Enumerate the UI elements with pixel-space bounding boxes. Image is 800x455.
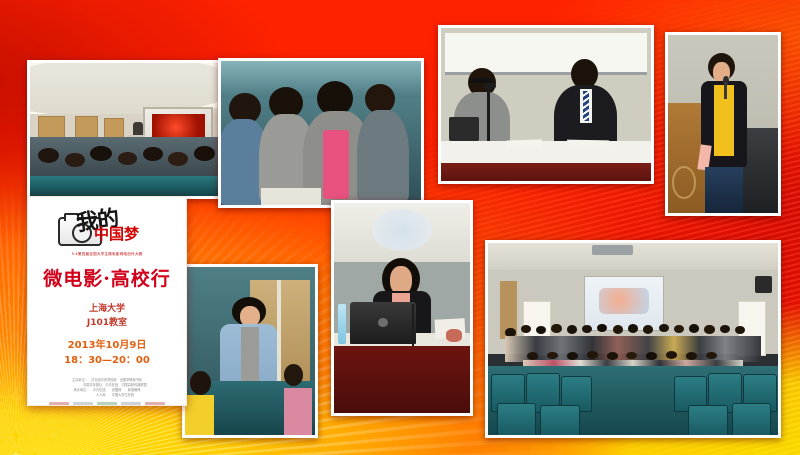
- photo-student-denim[interactable]: [182, 264, 318, 438]
- laptop-icon: [449, 117, 478, 141]
- event-poster[interactable]: 我的 中国梦 5.4第四届全国大学生微电影网络创作大赛 微电影·高校行 上海大学…: [27, 196, 187, 406]
- hand: [446, 329, 462, 342]
- jeans: [705, 167, 742, 213]
- yellow-shirt-student: [185, 395, 214, 435]
- partner-logo: [145, 402, 165, 406]
- papers-right: [567, 139, 609, 147]
- microphone-stand: [487, 86, 490, 144]
- collage-canvas: 我的 中国梦 5.4第四届全国大学生微电影网络创作大赛 微电影·高校行 上海大学…: [0, 0, 800, 455]
- lecture-hall-scene: [30, 63, 225, 196]
- pink-sports-shirt: [323, 130, 349, 199]
- presenter-table: [334, 333, 470, 413]
- microphone-icon: [483, 83, 496, 89]
- poster-logo-red-text: 中国梦: [94, 223, 139, 244]
- laptop-logo-icon: [378, 318, 388, 327]
- partner-logo: [49, 402, 69, 406]
- wall-speaker: [755, 276, 772, 293]
- microphone-body: [724, 83, 727, 99]
- venue-room: J101教室: [28, 317, 186, 331]
- photo-group[interactable]: [485, 240, 781, 438]
- wall-emblem: [672, 166, 696, 198]
- photo-woman-microphone[interactable]: [665, 32, 781, 216]
- presenter-scene: [334, 203, 470, 413]
- panel-table: [441, 141, 651, 181]
- panel-scene: [441, 28, 651, 181]
- photo-lecture-hall[interactable]: [27, 60, 228, 199]
- event-time: 18：30—20：00: [28, 353, 186, 368]
- photo-students-seated[interactable]: [218, 58, 424, 208]
- group-photo-scene: [488, 243, 778, 435]
- water-bottle: [338, 304, 346, 344]
- event-date: 2013年10月9日: [28, 338, 186, 353]
- photo-presenter-laptop[interactable]: [331, 200, 473, 416]
- poster-logo: 我的 中国梦: [28, 203, 186, 251]
- venue-name: 上海大学: [28, 303, 186, 317]
- screen-graphic: [372, 209, 432, 251]
- partner-logo: [97, 402, 117, 406]
- denim-student-scene: [185, 267, 315, 435]
- poster-title: 微电影·高校行: [28, 264, 186, 291]
- seated-student-head-left: [190, 371, 211, 395]
- panel-divider: [277, 280, 281, 391]
- projector: [592, 245, 633, 255]
- poster-datetime: 2013年10月9日 18：30—20：00: [28, 338, 186, 368]
- poster-credits: 主办单位： 共青团中央学校部 全国学联秘书处 中国青年报社 中青在线 中国高校传…: [28, 378, 186, 399]
- striped-tie: [583, 91, 589, 122]
- chair-rows: [488, 366, 778, 435]
- poster-venue: 上海大学 J101教室: [28, 303, 186, 331]
- partner-logo: [73, 402, 93, 406]
- poster-subtitle: 5.4第四届全国大学生微电影网络创作大赛: [28, 252, 186, 257]
- seated-student-right-body: [284, 388, 313, 435]
- audience-seating: [30, 137, 225, 196]
- papers-left: [506, 139, 542, 148]
- handout-paper: [261, 188, 321, 205]
- laptop-icon: [350, 302, 415, 344]
- student-body-4: [357, 110, 409, 205]
- partner-logo: [121, 402, 141, 406]
- students-seated-scene: [221, 61, 421, 205]
- screen-content: [599, 288, 649, 314]
- photo-panel-speakers[interactable]: [438, 25, 654, 184]
- mic-gooseneck: [412, 304, 414, 346]
- credits-line-4: 人人网 中国大学生在线: [28, 393, 186, 398]
- partner-logo-row: [28, 402, 186, 406]
- microphone-speaker-scene: [668, 35, 778, 213]
